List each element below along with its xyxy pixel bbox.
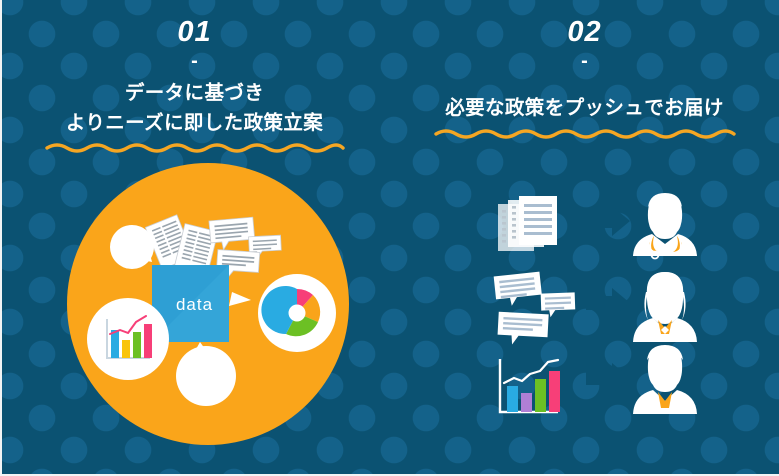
speech-bubbles-icon	[494, 272, 576, 347]
data-box-label: data	[0, 295, 389, 315]
arrow-right-icon	[586, 288, 630, 318]
doctor-avatar-icon	[633, 193, 697, 259]
arrow-right-icon	[586, 206, 630, 236]
row-2	[494, 272, 697, 347]
row-1	[498, 193, 697, 259]
bar-chart-icon	[500, 359, 560, 412]
panel-01: 01 - データに基づき よりニーズに即した政策立案	[0, 0, 389, 476]
arrow-right-icon	[586, 363, 630, 393]
senior-man-avatar-icon	[633, 345, 697, 414]
infographic-canvas: 01 - データに基づき よりニーズに即した政策立案	[0, 0, 779, 476]
empty-bubble-bottom	[176, 346, 236, 406]
push-delivery-illustration	[390, 0, 779, 476]
row-3	[500, 345, 697, 414]
panel-02: 02 - 必要な政策をプッシュでお届け	[390, 0, 779, 476]
documents-icon	[498, 196, 557, 251]
woman-avatar-icon	[633, 272, 697, 342]
data-collection-illustration	[0, 0, 389, 476]
empty-bubble-top	[110, 225, 154, 269]
